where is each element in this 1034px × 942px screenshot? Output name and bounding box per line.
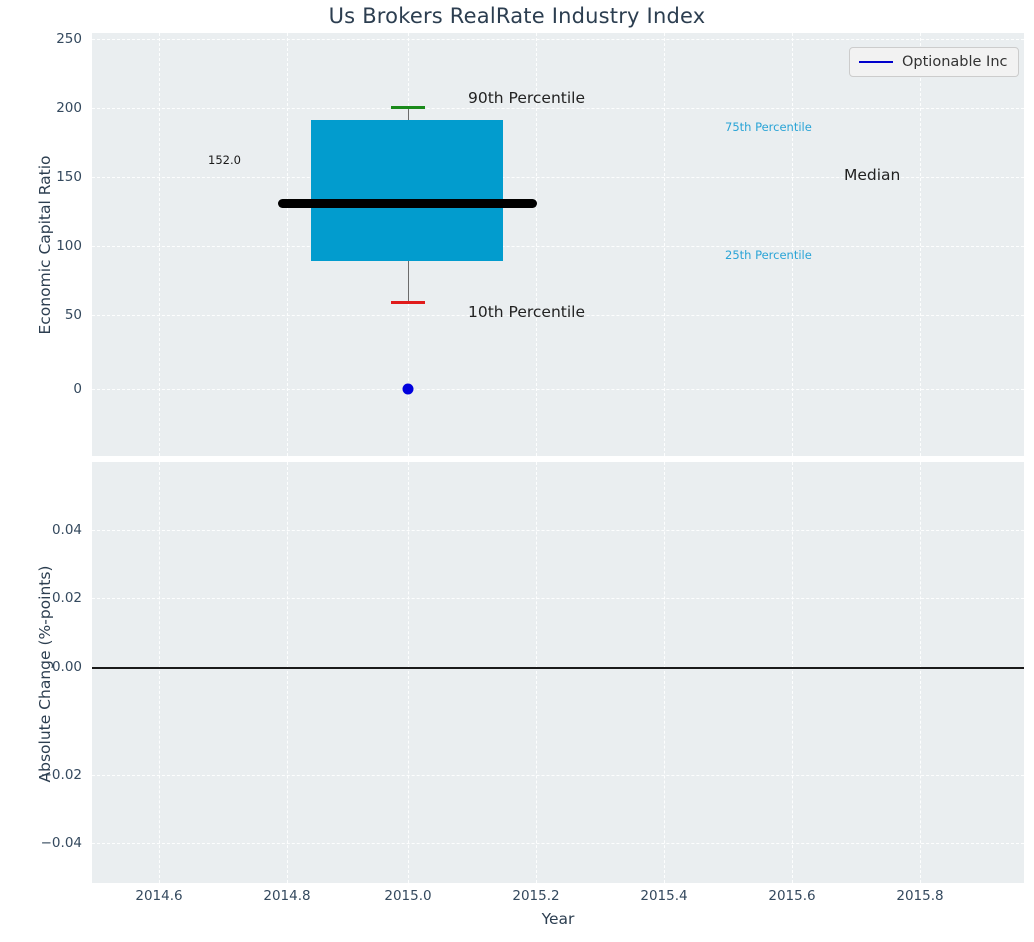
chart-figure: Us Brokers RealRate Industry Index 90th	[0, 0, 1034, 942]
zero-reference-line	[92, 667, 1024, 669]
gridline-y-200	[92, 108, 1024, 109]
x-tick-2014-6: 2014.6	[135, 888, 182, 904]
gridline-y-0-02	[92, 598, 1024, 599]
gridline-y-neg-0-02	[92, 775, 1024, 776]
data-point-optionable-inc[interactable]	[403, 384, 414, 395]
annotation-75th-percentile: 75th Percentile	[725, 120, 812, 134]
x-tick-2015-8: 2015.8	[896, 888, 943, 904]
y-tick-250: 250	[56, 31, 82, 47]
gridline-x-2015-4	[664, 33, 665, 456]
x-tick-2014-8: 2014.8	[263, 888, 310, 904]
annotation-90th-percentile: 90th Percentile	[468, 89, 585, 107]
annotation-25th-percentile: 25th Percentile	[725, 248, 812, 262]
x-tick-2015-0: 2015.0	[384, 888, 431, 904]
y-tick-200: 200	[56, 100, 82, 116]
y-tick-0-04: 0.04	[52, 522, 82, 538]
y-tick-0-02: 0.02	[52, 590, 82, 606]
axes-economic-capital-ratio: 90th Percentile 75th Percentile Median 2…	[92, 33, 1024, 456]
gridline-y-100	[92, 246, 1024, 247]
x-axis-label: Year	[92, 910, 1024, 928]
y-tick-0-00: 0.00	[52, 659, 82, 675]
gridline-y-neg-0-04	[92, 843, 1024, 844]
x-tick-2015-6: 2015.6	[768, 888, 815, 904]
median-line	[278, 199, 537, 208]
gridline-x-2015-8-lower	[920, 462, 921, 883]
gridline-x-2015-4-lower	[664, 462, 665, 883]
gridline-x-2015-6-lower	[792, 462, 793, 883]
cap-90th-percentile	[391, 106, 425, 109]
y-tick-0: 0	[73, 381, 82, 397]
gridline-x-2015-2-lower	[536, 462, 537, 883]
gridline-x-2015-6	[792, 33, 793, 456]
gridline-x-2014-8	[287, 33, 288, 456]
gridline-x-2015-8	[920, 33, 921, 456]
x-tick-2015-2: 2015.2	[512, 888, 559, 904]
legend-label-optionable-inc: Optionable Inc	[902, 54, 1007, 70]
x-tick-2015-4: 2015.4	[640, 888, 687, 904]
annotation-median: Median	[844, 166, 900, 184]
cap-10th-percentile	[391, 301, 425, 304]
gridline-x-2014-8-lower	[287, 462, 288, 883]
legend-line-icon	[859, 61, 893, 63]
gridline-y-250	[92, 39, 1024, 40]
y-axis-label-bottom: Absolute Change (%-points)	[36, 494, 54, 854]
chart-legend[interactable]: Optionable Inc	[849, 47, 1019, 77]
gridline-y-0	[92, 389, 1024, 390]
y-tick-150: 150	[56, 169, 82, 185]
axes-absolute-change	[92, 462, 1024, 883]
gridline-x-2014-6-lower	[159, 462, 160, 883]
y-axis-label-top: Economic Capital Ratio	[36, 95, 54, 395]
y-tick-100: 100	[56, 238, 82, 254]
annotation-median-value: 152.0	[208, 153, 241, 167]
y-tick-50: 50	[65, 307, 82, 323]
gridline-x-2014-6	[159, 33, 160, 456]
annotation-10th-percentile: 10th Percentile	[468, 303, 585, 321]
box-interquartile-range	[311, 120, 503, 261]
gridline-y-0-04	[92, 530, 1024, 531]
chart-title: Us Brokers RealRate Industry Index	[0, 4, 1034, 28]
gridline-x-2015-0-lower	[408, 462, 409, 883]
